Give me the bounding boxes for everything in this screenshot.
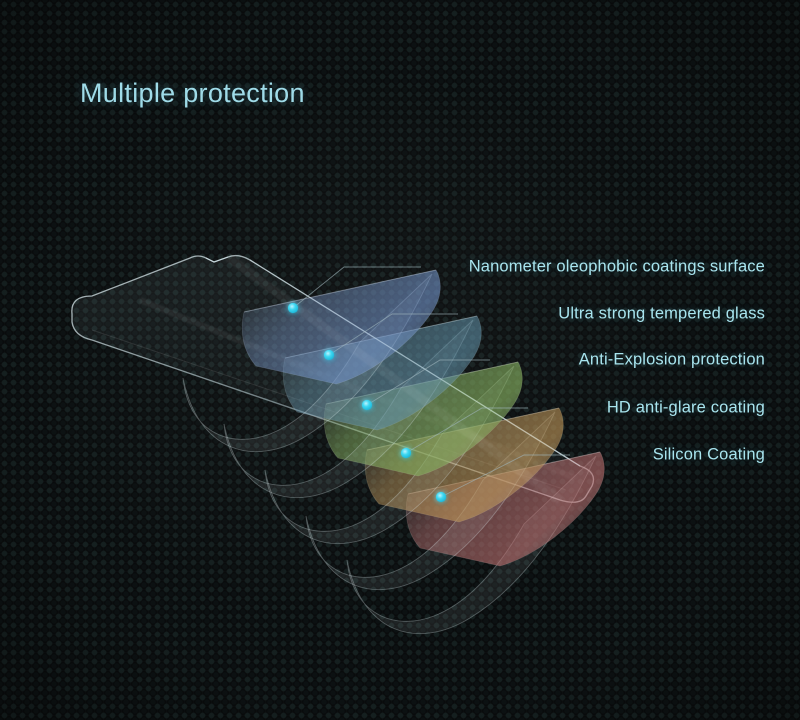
layer-label-1: Nanometer oleophobic coatings surface <box>469 258 765 277</box>
layer-marker-dot-4[interactable] <box>401 448 411 458</box>
layer-label-5: Silicon Coating <box>653 446 765 465</box>
layer-marker-dot-3[interactable] <box>362 400 372 410</box>
layer-label-2: Ultra strong tempered glass <box>558 305 765 324</box>
layer-marker-dot-1[interactable] <box>288 303 298 313</box>
layer-label-4: HD anti-glare coating <box>607 399 765 418</box>
screen-protector-infographic: Multiple protection <box>0 0 800 720</box>
layer-marker-dot-2[interactable] <box>324 350 334 360</box>
layer-marker-dot-5[interactable] <box>436 492 446 502</box>
layer-label-3: Anti-Explosion protection <box>579 351 765 370</box>
